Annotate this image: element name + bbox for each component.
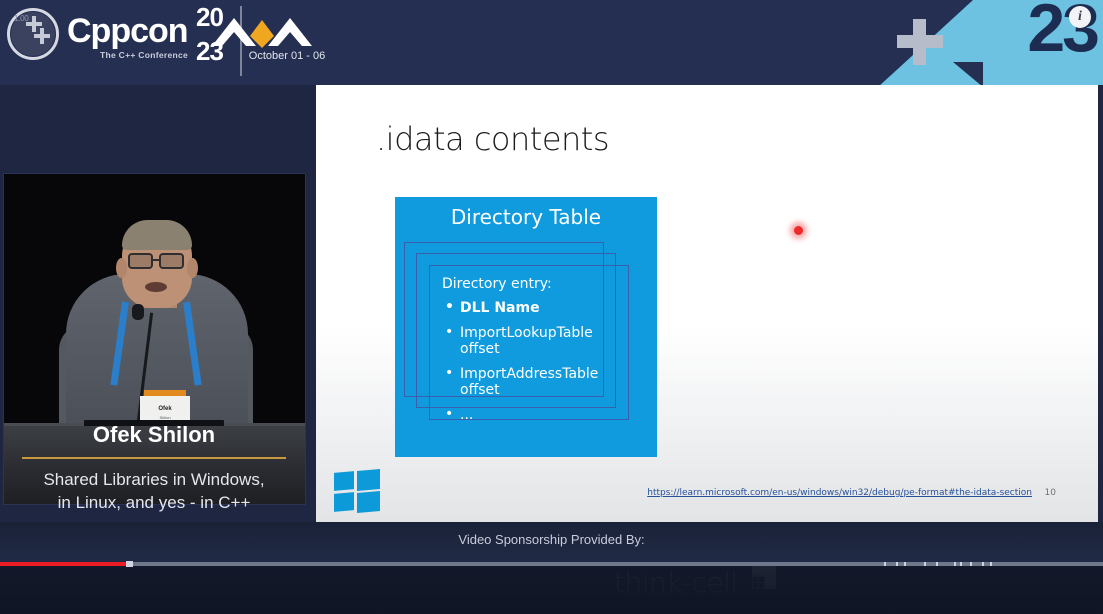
talk-title-line2: in Linux, and yes - in C++ [58,493,251,512]
speaker-glasses-bridge [152,259,160,261]
video-player-page: 1.00 Cppcon The C++ Conference 20 23 Oct… [0,0,1103,614]
speaker-glasses-left [128,253,153,269]
speaker-name: Ofek Shilon [0,422,308,448]
conference-header-banner: 1.00 Cppcon The C++ Conference 20 23 Oct… [0,0,1103,85]
directory-entry-field: ... [442,407,624,423]
speaker-glasses-right [159,253,184,269]
chapter-markers [878,562,1008,566]
directory-entry-field-list: DLL Name ImportLookupTable offset Import… [442,300,624,423]
directory-table-label: Directory Table [395,205,657,229]
source-url-link[interactable]: https://learn.microsoft.com/en-us/window… [647,488,1032,498]
mountain-chevrons-icon [210,6,320,50]
speaker-badge-name: Ofek [140,406,190,412]
speaker-mouth [145,282,167,292]
cppcon-logo-plus-d [40,28,44,44]
directory-entry-field: ImportAddressTable offset [442,366,624,398]
slide-title: .idata contents [376,120,609,158]
cppcon-brand-text: Cppcon [67,12,188,51]
talk-title-line1: Shared Libraries in Windows, [43,470,264,489]
progress-bar-track[interactable] [0,562,1103,566]
speaker-ear-left [116,258,127,278]
directory-entry-field: DLL Name [442,300,624,316]
conference-dates: October 01 - 06 [222,50,352,62]
windows-logo-icon [334,470,380,514]
speaker-ear-right [187,258,198,278]
cppcon-tagline: The C++ Conference [100,50,188,60]
laser-pointer-dot [794,226,803,235]
cppcon-logo-plus-b [32,16,36,32]
plus-icon-bar [897,35,943,48]
directory-entry-content: Directory entry: DLL Name ImportLookupTa… [442,276,624,432]
progress-bar-played [0,562,129,566]
speaker-divider [22,457,286,459]
microphone-icon [132,304,144,320]
sponsor-label: Video Sponsorship Provided By: [0,532,1103,547]
talk-title: Shared Libraries in Windows, in Linux, a… [10,468,298,515]
directory-entry-heading: Directory entry: [442,276,624,292]
info-icon[interactable]: i [1069,6,1091,28]
speaker-panel: Ofek Shilon Ofek Shilon Shared Libraries… [0,85,308,529]
progress-bar-handle[interactable] [126,561,133,567]
slide-page-number: 10 [1045,488,1056,498]
presentation-slide[interactable]: .idata contents Directory Table Director… [316,85,1098,522]
directory-entry-field: ImportLookupTable offset [442,325,624,357]
speaker-webcam-video[interactable]: Ofek Shilon [3,173,306,505]
speaker-hair [122,220,192,250]
video-player-controls: 6:58 / 59:31 [0,562,1103,614]
